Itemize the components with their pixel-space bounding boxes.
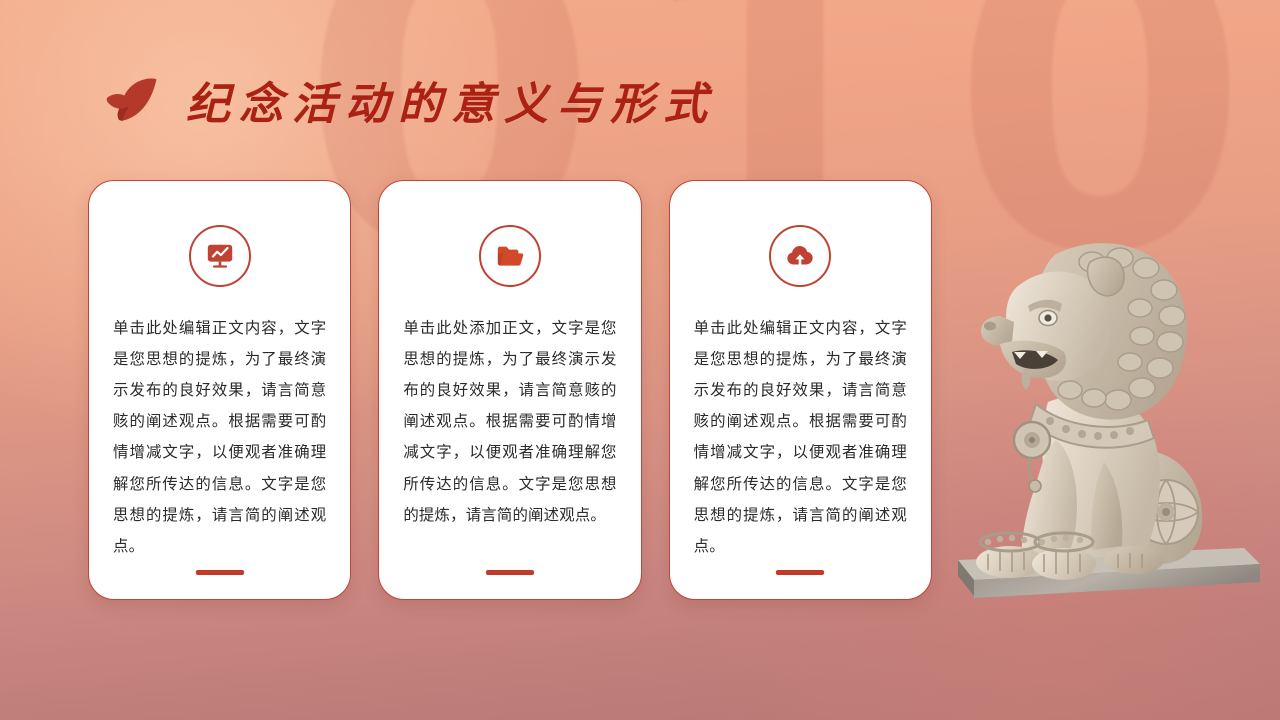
card-body-text-3: 单击此处编辑正文内容，文字是您思想的提炼，为了最终演示发布的良好效果，请言简意赅… xyxy=(690,313,911,562)
cloud-upload-icon xyxy=(785,241,815,271)
statue-base xyxy=(958,548,1260,598)
presentation-slide: 010 纪念活动的意义与形式 单击此处编辑正文内容，文字是您思想的提炼，为了最终… xyxy=(0,0,1280,720)
ankle-ornaments xyxy=(980,533,1093,551)
haunch-rosette xyxy=(1134,480,1198,544)
folder-open-icon xyxy=(495,241,525,271)
statue-paws xyxy=(976,546,1164,580)
statue-collar xyxy=(1014,404,1154,492)
card-accent-bar-3 xyxy=(776,570,824,575)
icon-badge-2 xyxy=(479,225,541,287)
content-card-1[interactable]: 单击此处编辑正文内容，文字是您思想的提炼，为了最终演示发布的良好效果，请言简意赅… xyxy=(88,180,351,600)
card-accent-bar-2 xyxy=(486,570,534,575)
content-card-3[interactable]: 单击此处编辑正文内容，文字是您思想的提炼，为了最终演示发布的良好效果，请言简意赅… xyxy=(669,180,932,600)
page-title: 纪念活动的意义与形式 xyxy=(186,68,716,132)
icon-badge-3 xyxy=(769,225,831,287)
presentation-chart-icon xyxy=(205,241,235,271)
dove-icon xyxy=(104,75,160,125)
card-body-text-1: 单击此处编辑正文内容，文字是您思想的提炼，为了最终演示发布的良好效果，请言简意赅… xyxy=(109,313,330,562)
icon-badge-1 xyxy=(189,225,251,287)
card-body-text-2: 单击此处添加正文，文字是您思想的提炼，为了最终演示发布的良好效果，请言简意赅的阐… xyxy=(399,313,620,531)
card-accent-bar-1 xyxy=(196,570,244,575)
content-card-row: 单击此处编辑正文内容，文字是您思想的提炼，为了最终演示发布的良好效果，请言简意赅… xyxy=(88,180,932,600)
content-card-2[interactable]: 单击此处添加正文，文字是您思想的提炼，为了最终演示发布的良好效果，请言简意赅的阐… xyxy=(378,180,641,600)
slide-header: 纪念活动的意义与形式 xyxy=(104,68,716,132)
